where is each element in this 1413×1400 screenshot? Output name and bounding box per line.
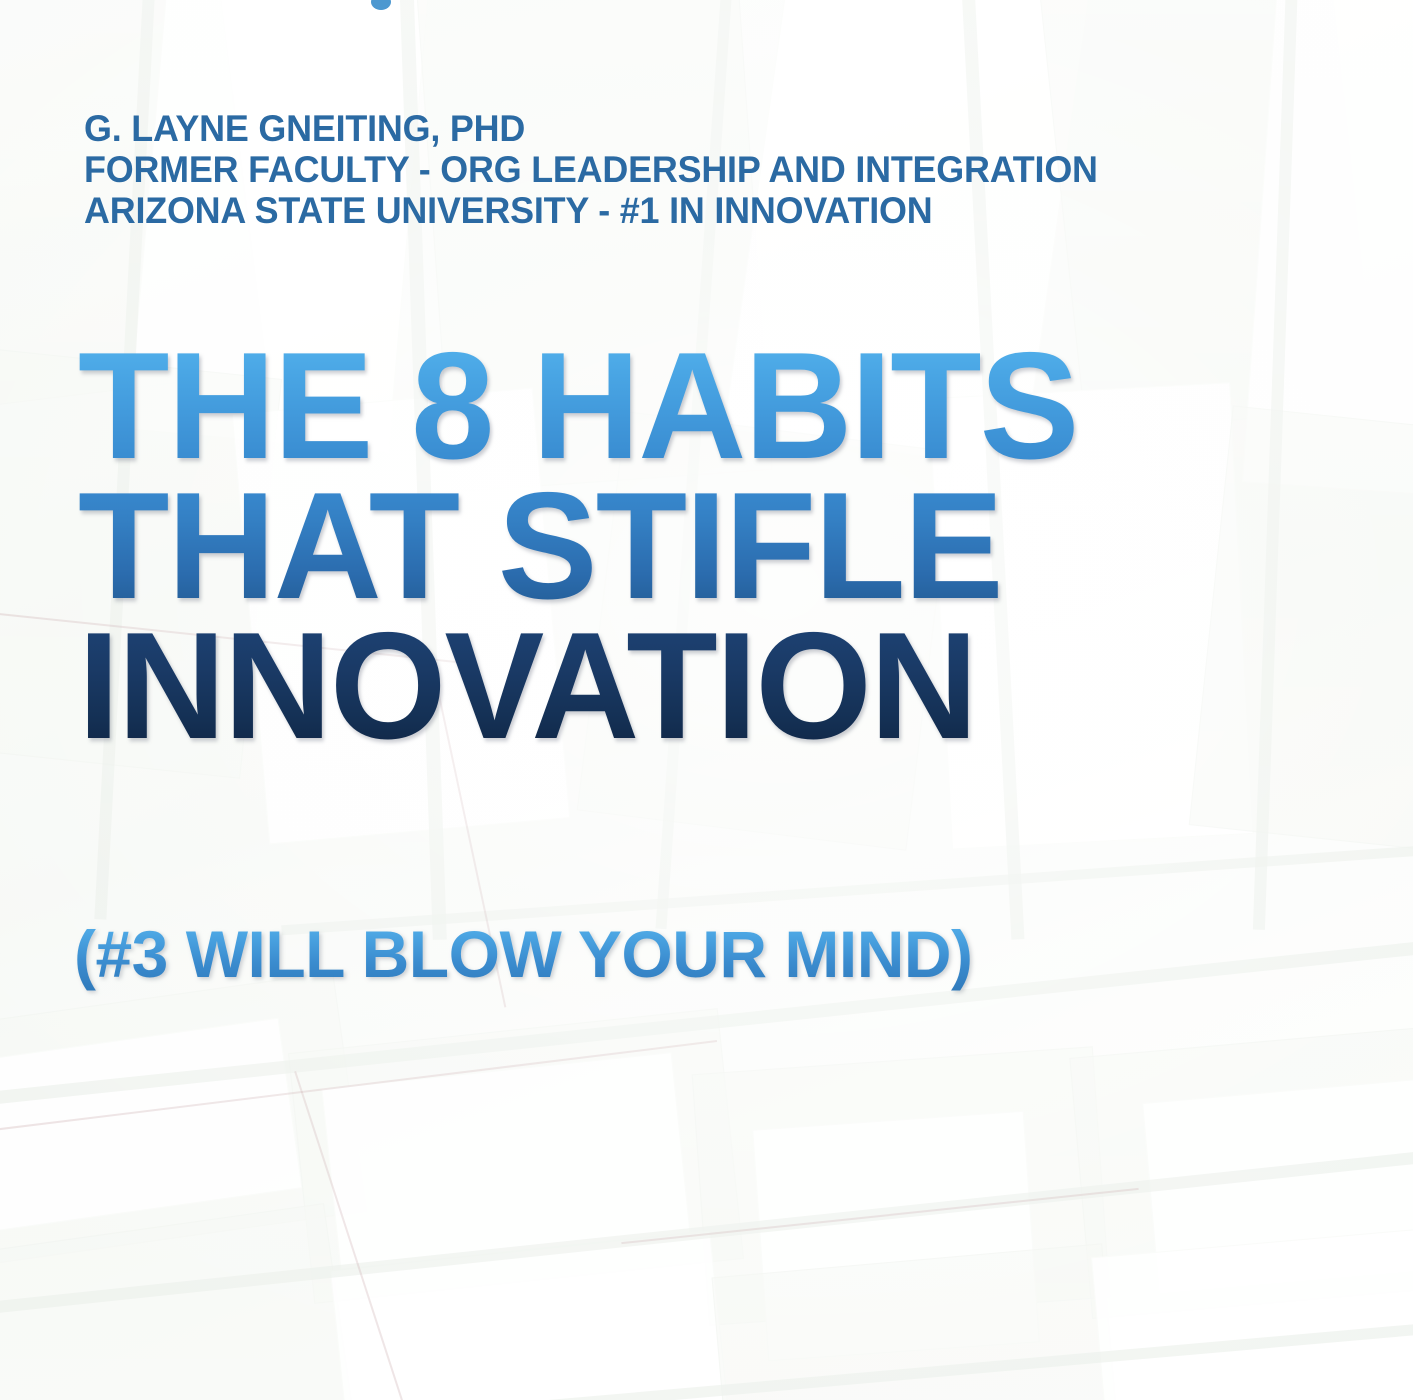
top-blue-fragment-icon	[371, 0, 391, 10]
headline-line-3: INNOVATION	[78, 610, 1359, 762]
byline-line-institution: ARIZONA STATE UNIVERSITY - #1 IN INNOVAT…	[84, 190, 1345, 231]
promo-slide: G. LAYNE GNEITING, PHD FORMER FACULTY - …	[0, 0, 1413, 1400]
slide-content: G. LAYNE GNEITING, PHD FORMER FACULTY - …	[0, 0, 1413, 1400]
byline-line-name: G. LAYNE GNEITING, PHD	[84, 108, 1345, 149]
headline-line-1: THE 8 HABITS	[78, 330, 1359, 482]
subheadline-teaser: (#3 WILL BLOW YOUR MIND)	[74, 915, 973, 993]
byline-line-role: FORMER FACULTY - ORG LEADERSHIP AND INTE…	[84, 149, 1345, 190]
byline-block: G. LAYNE GNEITING, PHD FORMER FACULTY - …	[84, 108, 1384, 231]
headline-line-2: THAT STIFLE	[78, 470, 1359, 622]
headline-block: THE 8 HABITS THAT STIFLE INNOVATION	[78, 330, 1378, 762]
